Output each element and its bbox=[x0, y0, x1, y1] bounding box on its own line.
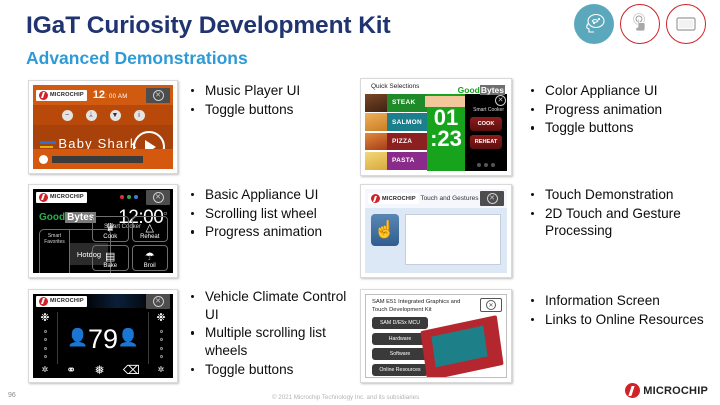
cooker-tagline: Smart Cooker bbox=[465, 107, 507, 113]
microchip-logo: MICROCHIP bbox=[36, 90, 87, 101]
fan-min-icon: ✲ bbox=[158, 364, 165, 376]
cooker-statusbar: MICROCHIP ✕ bbox=[33, 189, 173, 205]
list-item: Vehicle Climate Control UI bbox=[188, 288, 360, 323]
microchip-wordmark: MICROCHIP bbox=[50, 298, 84, 304]
gesture-canvas[interactable] bbox=[405, 214, 501, 265]
close-button[interactable]: ✕ bbox=[480, 191, 504, 206]
steak-thumbnail bbox=[365, 94, 387, 112]
climate-toggle-row: ⚭ ❅ ⌫ bbox=[57, 363, 149, 377]
list-item: Information Screen bbox=[528, 292, 716, 310]
list-item: Progress animation bbox=[188, 223, 360, 241]
software-button[interactable]: Software bbox=[372, 348, 428, 360]
close-icon: ✕ bbox=[153, 90, 164, 101]
climate-statusbar: MICROCHIP ✕ bbox=[33, 294, 173, 308]
close-button[interactable]: ✕ bbox=[146, 190, 170, 205]
microchip-mark-icon bbox=[625, 383, 640, 398]
seat-heater-icon[interactable]: ⌫ bbox=[123, 363, 140, 377]
smart-favorites-label: Smart Favorites bbox=[40, 230, 70, 273]
list-item: Touch Demonstration bbox=[528, 186, 716, 204]
header-icon-group bbox=[574, 4, 706, 44]
list-item: Music Player UI bbox=[188, 82, 358, 100]
music-player-statusbar: MICROCHIP 12: 00 AM ✕ bbox=[33, 85, 173, 105]
close-button[interactable]: ✕ bbox=[480, 298, 502, 312]
basic-appliance-screenshot: MICROCHIP ✕ GoodBytes Smart Cooker 12:00… bbox=[28, 184, 178, 278]
page-title: IGaT Curiosity Development Kit bbox=[26, 12, 391, 40]
touch-bullets: Touch Demonstration 2D Touch and Gesture… bbox=[528, 186, 716, 241]
progress-slider[interactable] bbox=[52, 156, 143, 163]
cook-timer: 01 :23 bbox=[427, 108, 465, 150]
music-player-screenshot: MICROCHIP 12: 00 AM ✕ − ᛦ ▼ i Baby Shark… bbox=[28, 80, 178, 174]
toggle-button-row: − ᛦ ▼ i bbox=[33, 105, 173, 125]
brain-head-icon bbox=[574, 4, 614, 44]
pizza-thumbnail bbox=[365, 133, 387, 151]
volume-icon[interactable] bbox=[39, 155, 48, 164]
close-button[interactable]: ✕ bbox=[146, 88, 170, 103]
list-item: Multiple scrolling list wheels bbox=[188, 324, 360, 359]
list-item: Progress animation bbox=[528, 101, 712, 119]
touch-gestures-screenshot: MICROCHIP Touch and Gestures ✕ ☝ bbox=[360, 184, 512, 278]
display-screen-icon bbox=[666, 4, 706, 44]
cook-button[interactable]: ♛Cook bbox=[92, 216, 129, 242]
microchip-logo: MICROCHIP bbox=[36, 192, 87, 203]
quick-selections-body: STEAK SALMON PIZZA PASTA bbox=[365, 94, 507, 171]
clock-display: 12: 00 AM bbox=[93, 89, 128, 101]
list-item: Color Appliance UI bbox=[528, 82, 712, 100]
close-icon: ✕ bbox=[486, 300, 496, 310]
gesture-hand-icon[interactable]: ☝ bbox=[371, 214, 399, 246]
microchip-wordmark: MICROCHIP bbox=[382, 196, 416, 202]
temperature-display: 79 bbox=[33, 324, 173, 355]
reheat-button[interactable]: REHEAT bbox=[470, 135, 502, 149]
minus-toggle-icon[interactable]: − bbox=[62, 110, 73, 121]
copyright-text: © 2021 Microchip Technology Inc. and its… bbox=[272, 394, 419, 401]
bluetooth-toggle-icon[interactable]: ᛦ bbox=[86, 110, 97, 121]
microchip-wordmark: MICROCHIP bbox=[50, 194, 84, 200]
wifi-toggle-icon[interactable]: ▼ bbox=[110, 110, 121, 121]
info-bullets: Information Screen Links to Online Resou… bbox=[528, 292, 716, 329]
slide: IGaT Curiosity Development Kit Advanced … bbox=[0, 0, 720, 405]
list-item[interactable]: SALMON bbox=[365, 113, 427, 131]
microchip-mark-icon bbox=[39, 91, 48, 100]
info-toggle-icon[interactable]: i bbox=[134, 110, 145, 121]
fan-min-icon: ✲ bbox=[42, 364, 49, 376]
list-item[interactable]: PASTA bbox=[365, 152, 427, 170]
bake-button[interactable]: ▤Bake bbox=[92, 245, 129, 271]
volume-bar-row bbox=[33, 149, 173, 169]
sam-mcu-button[interactable]: SAM D/E5x MCU bbox=[372, 317, 428, 329]
cooker-mode-buttons: ♛Cook △Reheat ▤Bake ☂Broil bbox=[92, 216, 168, 271]
color-appliance-screenshot: Quick Selections STEAK SALMON PIZZA bbox=[360, 78, 512, 176]
online-resources-button[interactable]: Online Resources bbox=[372, 364, 428, 376]
list-item: Links to Online Resources bbox=[528, 311, 716, 329]
development-board-photo bbox=[423, 323, 501, 373]
touch-titlebar: MICROCHIP Touch and Gestures ✕ bbox=[365, 189, 507, 208]
close-icon: ✕ bbox=[153, 192, 164, 203]
reheat-button[interactable]: △Reheat bbox=[132, 216, 169, 242]
quick-selections-list[interactable]: STEAK SALMON PIZZA PASTA bbox=[365, 94, 427, 171]
pasta-thumbnail bbox=[365, 152, 387, 170]
microchip-wordmark: MICROCHIP bbox=[643, 385, 708, 397]
info-button-list: SAM D/E5x MCU Hardware Software Online R… bbox=[372, 317, 428, 376]
list-item: Toggle buttons bbox=[528, 119, 712, 137]
defrost-car-icon[interactable]: ⚭ bbox=[66, 363, 76, 377]
cooker-brand: GoodBytes bbox=[458, 85, 505, 95]
vehicle-climate-screenshot: MICROCHIP ✕ ❉ ✲ ❉ ✲ 👤 bbox=[28, 289, 178, 383]
microchip-mark-icon bbox=[371, 194, 380, 203]
list-item: 2D Touch and Gesture Processing bbox=[528, 205, 716, 240]
fan-icon: ❉ bbox=[156, 312, 165, 324]
list-item: Toggle buttons bbox=[188, 361, 360, 379]
salmon-thumbnail bbox=[365, 113, 387, 131]
information-screen-screenshot: SAM E51 Integrated Graphics and Touch De… bbox=[360, 289, 512, 383]
climate-bullets: Vehicle Climate Control UI Multiple scro… bbox=[188, 288, 360, 379]
ac-snowflake-icon[interactable]: ❅ bbox=[95, 363, 105, 377]
microchip-logo: MICROCHIP bbox=[368, 193, 419, 204]
touch-title: Touch and Gestures bbox=[419, 195, 480, 202]
fan-icon: ❉ bbox=[40, 312, 49, 324]
climate-body: ❉ ✲ ❉ ✲ 👤 👤 79 ⚭ ❅ ⌫ bbox=[33, 308, 173, 378]
list-item: Toggle buttons bbox=[188, 101, 358, 119]
close-icon: ✕ bbox=[153, 296, 164, 307]
cook-button[interactable]: COOK bbox=[470, 117, 502, 131]
appliance-bullets: Basic Appliance UI Scrolling list wheel … bbox=[188, 186, 360, 242]
touch-gesture-icon bbox=[620, 4, 660, 44]
close-button[interactable]: ✕ bbox=[146, 294, 170, 309]
page-dots[interactable] bbox=[465, 163, 507, 167]
microchip-mark-icon bbox=[39, 297, 48, 306]
status-dots bbox=[120, 195, 138, 199]
broil-button[interactable]: ☂Broil bbox=[132, 245, 169, 271]
list-item: Scrolling list wheel bbox=[188, 205, 360, 223]
hardware-button[interactable]: Hardware bbox=[372, 333, 428, 345]
timer-panel: 01 :23 bbox=[427, 94, 465, 171]
list-item[interactable]: STEAK bbox=[365, 94, 427, 112]
music-bullets: Music Player UI Toggle buttons bbox=[188, 82, 358, 119]
list-item[interactable]: PIZZA bbox=[365, 133, 427, 151]
microchip-footer-logo: MICROCHIP bbox=[625, 383, 708, 398]
slide-number: 96 bbox=[8, 392, 16, 399]
microchip-logo: MICROCHIP bbox=[36, 296, 87, 307]
close-icon: ✕ bbox=[487, 193, 498, 204]
page-subtitle: Advanced Demonstrations bbox=[26, 48, 248, 69]
color-appliance-bullets: Color Appliance UI Progress animation To… bbox=[528, 82, 712, 138]
close-button[interactable]: ✕ bbox=[465, 94, 507, 107]
quick-actions-panel: ✕ Smart Cooker COOK REHEAT bbox=[465, 94, 507, 171]
microchip-mark-icon bbox=[39, 193, 48, 202]
microchip-wordmark: MICROCHIP bbox=[50, 92, 84, 98]
close-icon: ✕ bbox=[495, 95, 506, 106]
list-item: Basic Appliance UI bbox=[188, 186, 360, 204]
